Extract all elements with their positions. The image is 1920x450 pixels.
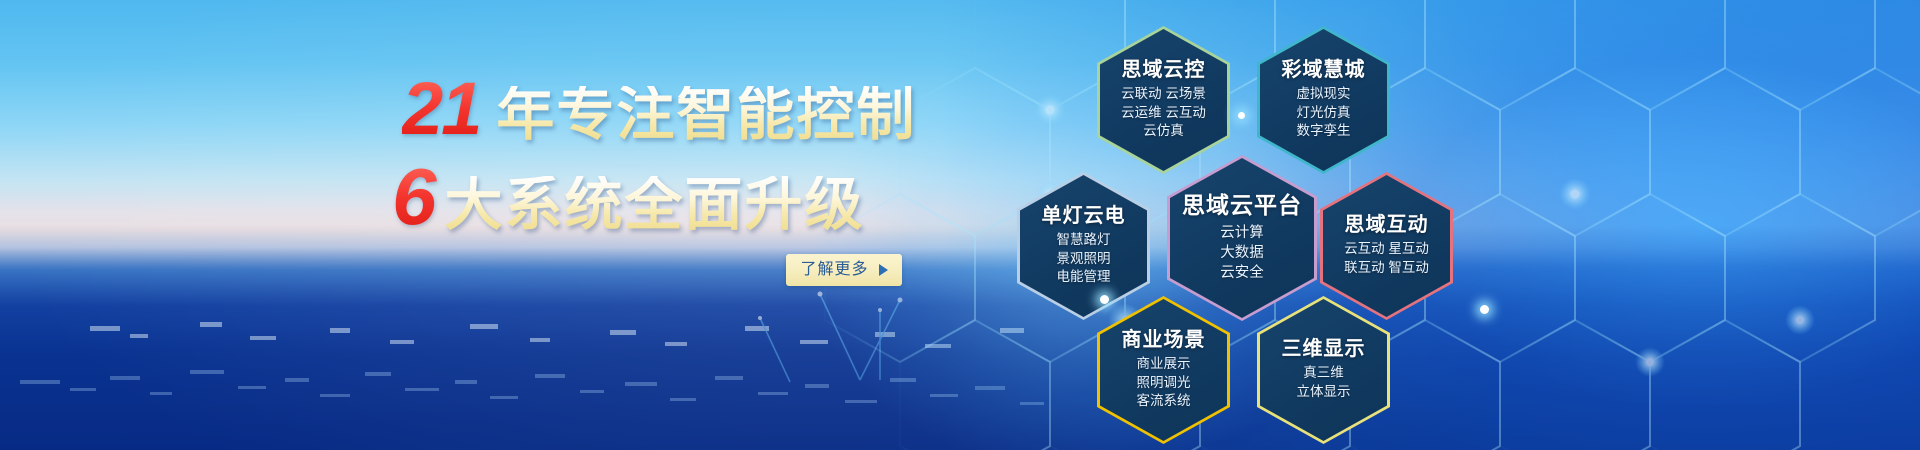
hex-smart-city[interactable]: 彩域慧城 虚拟现实 灯光仿真 数字孪生 bbox=[1257, 26, 1390, 174]
play-triangle-icon bbox=[879, 264, 888, 276]
headline-line-1: 21 年专注智能控制 bbox=[402, 72, 916, 146]
hex-subtitle: 真三维 立体显示 bbox=[1282, 364, 1366, 401]
hex-three-d-display[interactable]: 三维显示 真三维 立体显示 bbox=[1257, 296, 1390, 444]
learn-more-label: 了解更多 bbox=[800, 262, 868, 278]
learn-more-button[interactable]: 了解更多 bbox=[786, 254, 902, 286]
hex-title: 三维显示 bbox=[1282, 338, 1366, 360]
headline-text-1: 年专注智能控制 bbox=[496, 86, 916, 144]
hex-subtitle: 云联动 云场景 云运维 云互动 云仿真 bbox=[1121, 85, 1206, 141]
hex-title: 单灯云电 bbox=[1042, 205, 1126, 227]
hex-subtitle: 云计算 大数据 云安全 bbox=[1182, 223, 1302, 283]
hex-subtitle: 虚拟现实 灯光仿真 数字孪生 bbox=[1282, 85, 1366, 141]
hex-subtitle: 智慧路灯 景观照明 电能管理 bbox=[1042, 231, 1126, 287]
headline-line-2: 6 大系统全面升级 bbox=[392, 157, 865, 237]
promo-banner: 21 年专注智能控制 6 大系统全面升级 了解更多 思域云控 云联动 云场景 云… bbox=[0, 0, 1920, 450]
headline-number-6: 6 bbox=[392, 157, 437, 237]
hexagon-cluster: 思域云控 云联动 云场景 云运维 云互动 云仿真 彩域慧城 虚拟现实 灯光仿真 … bbox=[960, 0, 1520, 450]
glow-node-b bbox=[1480, 305, 1489, 314]
glow-node-c bbox=[1238, 112, 1245, 119]
headline-block: 21 年专注智能控制 6 大系统全面升级 bbox=[0, 0, 1000, 450]
headline-text-2: 大系统全面升级 bbox=[445, 176, 865, 234]
hex-title: 思域互动 bbox=[1344, 214, 1429, 236]
glow-node-a bbox=[1100, 295, 1109, 304]
hex-title: 商业场景 bbox=[1122, 329, 1206, 351]
headline-number-21: 21 bbox=[402, 72, 482, 146]
hex-cloud-control[interactable]: 思域云控 云联动 云场景 云运维 云互动 云仿真 bbox=[1097, 26, 1230, 174]
hex-subtitle: 商业展示 照明调光 客流系统 bbox=[1122, 355, 1206, 411]
hex-title: 思域云平台 bbox=[1182, 193, 1302, 218]
hex-subtitle: 云互动 星互动 联互动 智互动 bbox=[1344, 240, 1429, 277]
hex-title: 彩域慧城 bbox=[1282, 59, 1366, 81]
hex-title: 思域云控 bbox=[1121, 59, 1206, 81]
hex-business-scene[interactable]: 商业场景 商业展示 照明调光 客流系统 bbox=[1097, 296, 1230, 444]
